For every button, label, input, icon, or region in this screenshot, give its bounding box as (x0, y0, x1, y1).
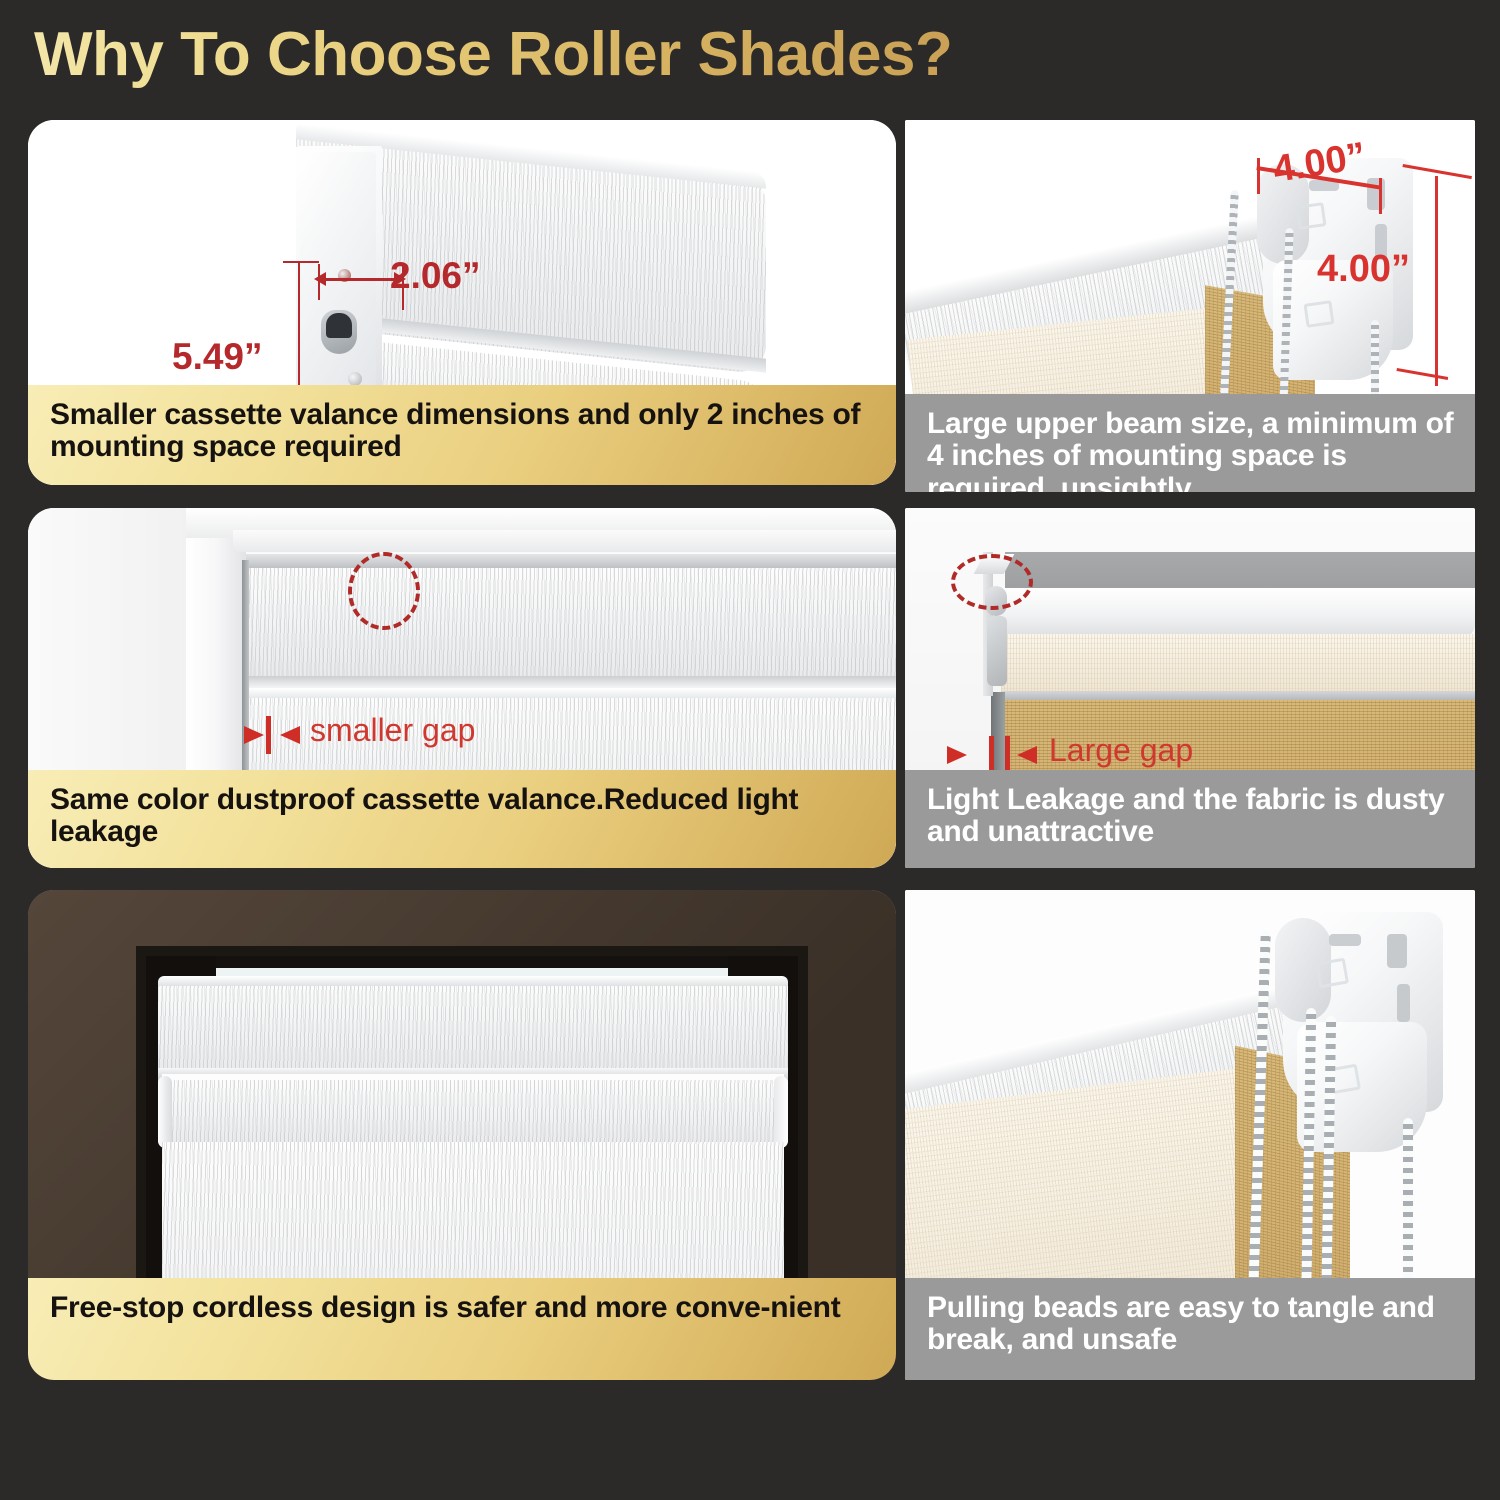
beam-height-line (1435, 176, 1438, 386)
beam-width-tick-left (1257, 158, 1260, 194)
panel-smaller-gap: smaller gap Same color dustproof cassett… (28, 508, 896, 868)
gap-arrow-left (1017, 746, 1037, 764)
panel-pulling-beads: Pulling beads are easy to tangle and bre… (905, 890, 1475, 1380)
height-dimension-label: 5.49” (172, 336, 263, 378)
panel-caption-cordless-design: Free-stop cordless design is safer and m… (28, 1278, 896, 1380)
gap-arrow-right (947, 746, 967, 764)
gap-highlight-circle (951, 554, 1033, 610)
page-title: Why To Choose Roller Shades? (34, 19, 952, 90)
large-gap-label: Large gap (1049, 732, 1193, 769)
panel-caption-large-upper-beam: Large upper beam size, a minimum of 4 in… (905, 394, 1475, 492)
panel-caption-large-gap: Light Leakage and the fabric is dusty an… (905, 770, 1475, 868)
gap-highlight-circle (348, 552, 420, 630)
beam-height-tick-bottom (1396, 368, 1448, 380)
smaller-gap-label: smaller gap (310, 712, 475, 749)
width-dim-arrow-left (314, 272, 326, 286)
width-dimension-label: 2.06” (390, 255, 481, 297)
header-bar: Why To Choose Roller Shades? (0, 0, 1500, 108)
beam-width-tick-right (1379, 178, 1382, 214)
gap-marker-line-1 (989, 736, 994, 774)
gap-marker-line-2 (1005, 736, 1010, 774)
panel-large-upper-beam: 4.00” 4.00” Large upper beam size, a min… (905, 120, 1475, 492)
panel-caption-smaller-gap: Same color dustproof cassette valance.Re… (28, 770, 896, 868)
gap-arrow-left (280, 726, 300, 744)
panel-large-gap: Large gap Light Leakage and the fabric i… (905, 508, 1475, 868)
height-dim-tick-top (283, 261, 319, 263)
panel-caption-cassette-dimensions: Smaller cassette valance dimensions and … (28, 385, 896, 485)
beam-height-label: 4.00” (1317, 248, 1410, 291)
gap-arrow-right (244, 726, 264, 744)
panel-cordless-design: Free-stop cordless design is safer and m… (28, 890, 896, 1380)
panel-caption-pulling-beads: Pulling beads are easy to tangle and bre… (905, 1278, 1475, 1380)
gap-marker-line (266, 716, 271, 754)
panel-cassette-dimensions: 2.06” 5.49” Smaller cassette valance dim… (28, 120, 896, 485)
